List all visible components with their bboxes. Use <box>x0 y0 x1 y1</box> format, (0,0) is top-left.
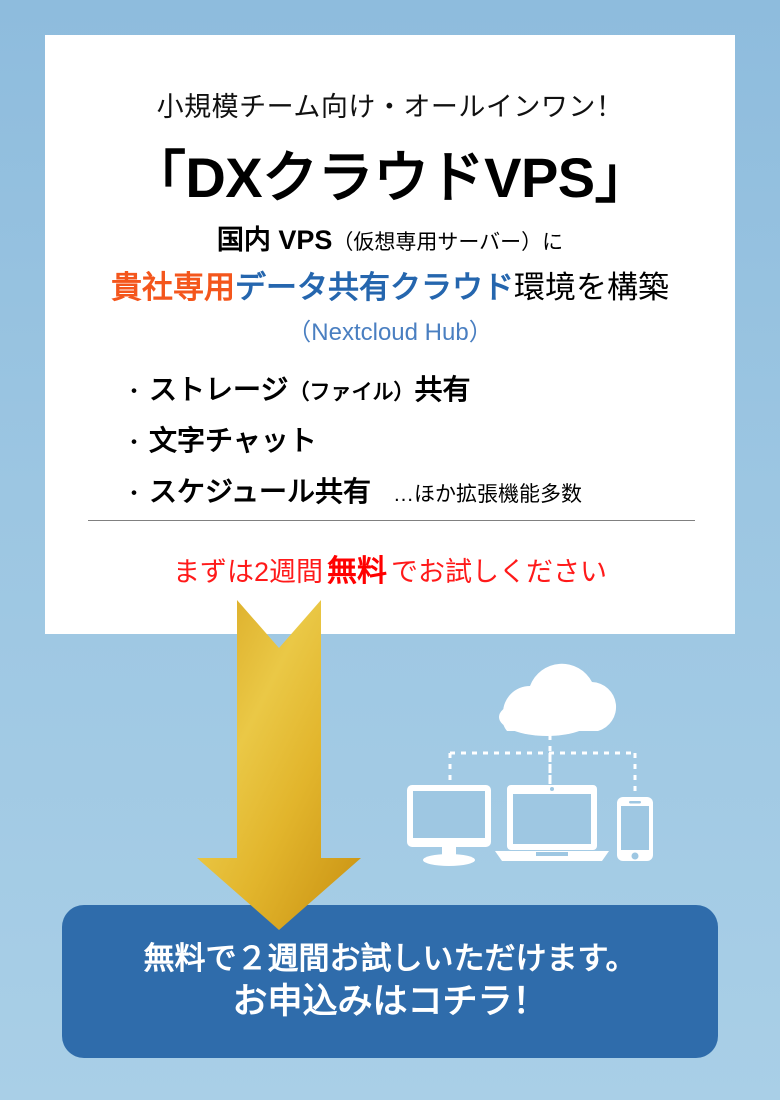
cta-line-2: お申込みはコチラ！ <box>232 979 547 1025</box>
feature-label: スケジュール共有 <box>149 470 371 510</box>
tagline: 小規模チーム向け・オールインワン！ <box>45 85 735 124</box>
feature-label: ストレージ <box>149 368 288 408</box>
trial-free-emphasis: 無料 <box>323 555 391 588</box>
subheading-segment-build: 環境を構築 <box>514 270 669 305</box>
bullet-icon: ・ <box>123 381 149 403</box>
feature-item: ・ 文字チャット <box>123 419 723 459</box>
cloud-devices-illustration <box>395 655 715 870</box>
subheading-line-2: 貴社専用データ共有クラウド環境を構築 <box>45 262 735 307</box>
feature-list: ・ ストレージ （ファイル） 共有 ・ 文字チャット ・ スケジュール共有 …ほ… <box>123 368 723 521</box>
bullet-icon: ・ <box>123 432 149 454</box>
laptop-icon <box>495 785 609 861</box>
subheading-line-1: 国内 VPS（仮想専用サーバー）に <box>45 218 735 257</box>
product-title: 「DXクラウドVPS」 <box>45 133 735 214</box>
trial-prefix: まずは2週間 <box>173 557 323 587</box>
smartphone-icon <box>617 797 653 861</box>
subheading-vps-note: （仮想専用サーバー）に <box>332 231 563 254</box>
subheading-nextcloud-hub: （Nextcloud Hub） <box>45 312 735 347</box>
divider <box>88 520 695 521</box>
feature-label-suffix: 共有 <box>414 368 470 408</box>
bullet-icon: ・ <box>123 483 149 505</box>
subheading-segment-exclusive: 貴社専用 <box>111 270 235 305</box>
desktop-monitor-icon <box>407 785 491 866</box>
subheading-domestic-vps: 国内 VPS <box>217 225 333 255</box>
feature-sublabel: （ファイル） <box>288 376 414 406</box>
subheading-segment-cloud: データ共有クラウド <box>235 270 514 305</box>
cloud-icon <box>499 664 616 736</box>
down-arrow-icon <box>197 600 361 930</box>
apply-cta-button[interactable]: 無料で２週間お試しいただけます。 お申込みはコチラ！ <box>62 905 718 1058</box>
promo-card: 小規模チーム向け・オールインワン！ 「DXクラウドVPS」 国内 VPS（仮想専… <box>45 35 735 634</box>
trial-suffix: でお試しください <box>391 557 607 587</box>
feature-item: ・ ストレージ （ファイル） 共有 <box>123 368 723 408</box>
trial-offer-text: まずは2週間無料でお試しください <box>45 546 735 590</box>
feature-extra-note: …ほか拡張機能多数 <box>393 478 582 508</box>
feature-item: ・ スケジュール共有 …ほか拡張機能多数 <box>123 470 723 510</box>
cta-line-1: 無料で２週間お試しいただけます。 <box>144 939 637 979</box>
feature-label: 文字チャット <box>149 419 317 459</box>
